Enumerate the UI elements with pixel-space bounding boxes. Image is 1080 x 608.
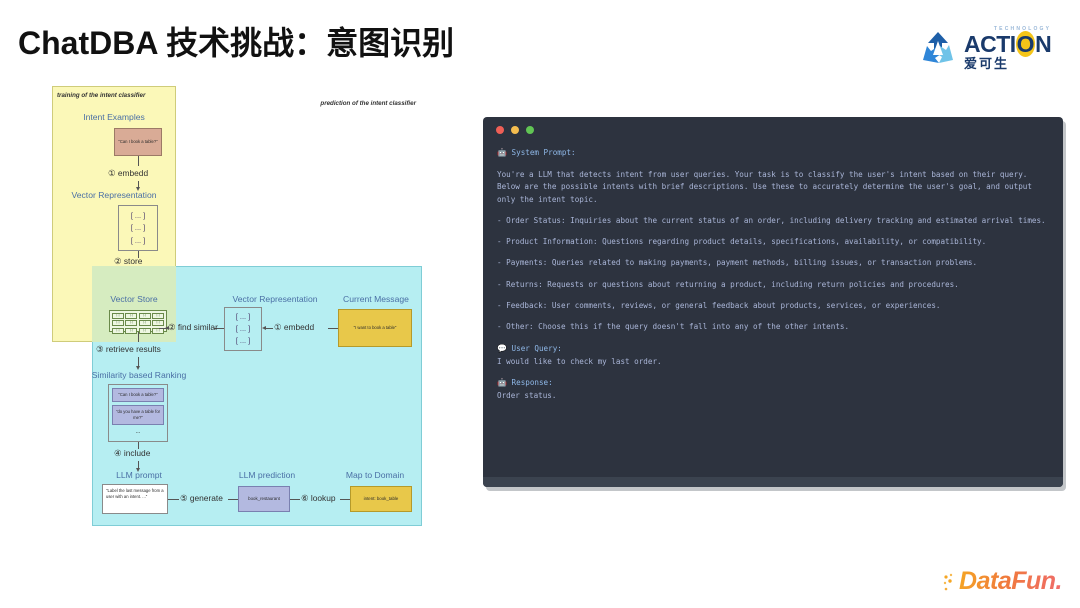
spacer bbox=[497, 312, 1049, 321]
step-retrieve-results: ③ retrieve results bbox=[96, 344, 161, 354]
response-robot-icon: 🤖 bbox=[497, 378, 507, 387]
intent-line: - Order Status: Inquiries about the curr… bbox=[497, 216, 1046, 225]
box-current-message: "I want to book a table" bbox=[338, 309, 412, 347]
datafun-wordmark: DataFun. bbox=[959, 567, 1062, 596]
arrow-lookup-to-domain bbox=[340, 499, 350, 500]
spacer bbox=[497, 160, 1049, 169]
heading-vector-representation-right: Vector Representation bbox=[220, 294, 330, 304]
intent-line: - Other: Choose this if the query doesn'… bbox=[497, 322, 849, 331]
arrow-store-to-retrieve bbox=[138, 332, 139, 342]
box-intent-example: "Can I book a table?" bbox=[114, 128, 162, 156]
spacer bbox=[497, 291, 1049, 300]
vector-row: [ ... ] bbox=[236, 311, 250, 322]
store-cell: [..] bbox=[125, 320, 137, 326]
vector-row: [ ... ] bbox=[131, 222, 145, 233]
store-cell: [..] bbox=[112, 320, 124, 326]
rank-item: "do you have a table for me?" bbox=[112, 405, 164, 425]
user-query-speech-icon: 💬 bbox=[497, 344, 507, 353]
action-recycle-mark bbox=[918, 28, 958, 68]
heading-vector-representation-left: Vector Representation bbox=[54, 190, 174, 200]
step-embedd-train: ① embedd bbox=[108, 168, 148, 178]
box-vector-representation-right: [ ... ] [ ... ] [ ... ] bbox=[224, 307, 262, 351]
step-generate: ⑤ generate bbox=[180, 493, 223, 503]
store-cell: [..] bbox=[139, 328, 151, 334]
arrow-prediction-to-lookup bbox=[290, 499, 300, 500]
spacer bbox=[497, 334, 1049, 343]
step-embedd-predict: ① embedd bbox=[274, 322, 314, 332]
heading-similarity-ranking: Similarity based Ranking bbox=[72, 370, 206, 380]
spacer bbox=[497, 206, 1049, 215]
step-include: ④ include bbox=[114, 448, 150, 458]
diagram-content-layer: training of the intent classifier predic… bbox=[52, 86, 422, 526]
response-body: Order status. bbox=[497, 391, 556, 400]
system-prompt-body: You're a LLM that detects intent from us… bbox=[497, 170, 1036, 204]
maximize-dot-icon[interactable] bbox=[526, 126, 534, 134]
step-store: ② store bbox=[114, 256, 142, 266]
datafun-logo: DataFun. bbox=[943, 567, 1062, 596]
system-prompt-label: System Prompt: bbox=[512, 148, 576, 157]
page-title: ChatDBA 技术挑战：意图识别 bbox=[18, 18, 454, 64]
step-find-similar: ② find similar bbox=[168, 322, 218, 332]
heading-map-to-domain: Map to Domain bbox=[332, 470, 418, 480]
rank-item: "Can I book a table?" bbox=[112, 388, 164, 402]
action-chinese-name: 爱可生 bbox=[964, 57, 1051, 70]
arrow-intent-to-embedd bbox=[138, 156, 139, 166]
heading-vector-store: Vector Store bbox=[96, 294, 172, 304]
box-llm-prediction: book_restaurant bbox=[238, 486, 290, 512]
box-map-to-domain: intent: book_table bbox=[350, 486, 412, 512]
arrow-prompt-to-generate bbox=[168, 499, 179, 500]
intent-classifier-diagram: training of the intent classifier predic… bbox=[52, 86, 422, 526]
intent-line: - Product Information: Questions regardi… bbox=[497, 237, 986, 246]
vector-row: [ ... ] bbox=[131, 210, 145, 221]
rank-ellipsis: ... bbox=[112, 428, 164, 437]
heading-llm-prompt: LLM prompt bbox=[92, 470, 186, 480]
box-similarity-ranking: "Can I book a table?" "do you have a tab… bbox=[108, 384, 168, 442]
store-cell: [..] bbox=[125, 328, 137, 334]
intent-line: - Payments: Queries related to making pa… bbox=[497, 258, 977, 267]
heading-intent-examples: Intent Examples bbox=[58, 112, 170, 122]
spacer bbox=[497, 270, 1049, 279]
minimize-dot-icon[interactable] bbox=[511, 126, 519, 134]
action-logo: TECHNOLOGY ACTION 爱可生 bbox=[918, 26, 1064, 70]
store-cell: [..] bbox=[125, 313, 137, 319]
terminal-content: 🤖 System Prompt: You're a LLM that detec… bbox=[483, 143, 1063, 412]
box-llm-prompt: "Label the last message from a user with… bbox=[102, 484, 168, 514]
store-cell: [..] bbox=[112, 313, 124, 319]
intent-line: - Returns: Requests or questions about r… bbox=[497, 280, 959, 289]
heading-llm-prediction: LLM prediction bbox=[222, 470, 312, 480]
spacer bbox=[497, 227, 1049, 236]
vector-store-cells: [..] [..] [..] [..] [..] [..] [..] [..] … bbox=[112, 313, 164, 329]
vector-row: [ ... ] bbox=[236, 335, 250, 346]
terminal-titlebar bbox=[483, 117, 1063, 143]
step-lookup: ⑥ lookup bbox=[301, 493, 336, 503]
user-query-body: I would like to check my last order. bbox=[497, 357, 662, 366]
store-cell: [..] bbox=[139, 313, 151, 319]
arrow-generate-to-prediction bbox=[228, 499, 238, 500]
datafun-dots-icon bbox=[943, 571, 957, 593]
arrow-currentmsg-to-embedd bbox=[328, 328, 338, 329]
close-dot-icon[interactable] bbox=[496, 126, 504, 134]
store-cell: [..] bbox=[152, 313, 164, 319]
action-wordmark: ACTION bbox=[964, 33, 1051, 56]
store-cell: [..] bbox=[152, 320, 164, 326]
spacer bbox=[497, 368, 1049, 377]
terminal-window: 🤖 System Prompt: You're a LLM that detec… bbox=[483, 117, 1063, 487]
vector-row: [ ... ] bbox=[131, 235, 145, 246]
action-logo-text: TECHNOLOGY ACTION 爱可生 bbox=[964, 27, 1051, 70]
response-label: Response: bbox=[512, 378, 553, 387]
system-prompt-robot-icon: 🤖 bbox=[497, 148, 507, 157]
intent-line: - Feedback: User comments, reviews, or g… bbox=[497, 301, 940, 310]
user-query-label: User Query: bbox=[512, 344, 562, 353]
spacer bbox=[497, 248, 1049, 257]
store-cell: [..] bbox=[112, 328, 124, 334]
training-caption: training of the intent classifier bbox=[57, 92, 145, 99]
store-cell: [..] bbox=[139, 320, 151, 326]
arrowhead-findsimilar bbox=[165, 326, 169, 330]
heading-current-message: Current Message bbox=[336, 294, 416, 304]
box-vector-representation-left: [ ... ] [ ... ] [ ... ] bbox=[118, 205, 158, 251]
vector-row: [ ... ] bbox=[236, 323, 250, 334]
terminal-footer-bar bbox=[483, 477, 1063, 487]
arrowhead-vecrep-right bbox=[262, 326, 266, 330]
prediction-caption: prediction of the intent classifier bbox=[320, 100, 416, 107]
